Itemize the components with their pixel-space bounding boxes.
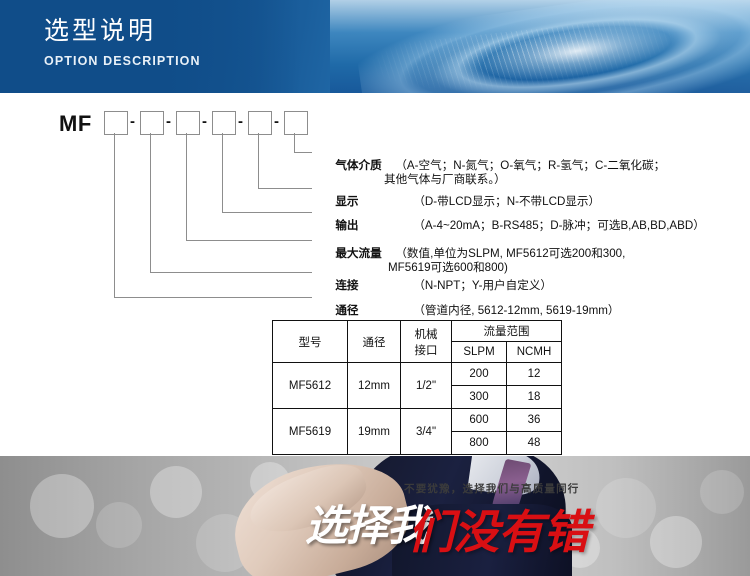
cell-slpm: 200 [452,363,507,386]
th-bore: 通径 [348,321,401,363]
cell-model: MF5619 [273,409,348,455]
code-separator-5: - [274,117,279,127]
bokeh-circle [650,516,702,568]
bottom-promo-banner: 不要犹豫，选择我们与高质量同行 选择我 们没有错 [0,456,750,576]
leader-h-1 [114,297,312,298]
leader-v-6 [294,133,295,153]
page-header-banner: 选型说明 OPTION DESCRIPTION [0,0,750,93]
th-model: 型号 [273,321,348,363]
code-separator-2: - [166,117,171,127]
code-separator-1: - [130,117,135,127]
cell-ncmh: 36 [507,409,562,432]
th-ncmh: NCMH [507,342,562,363]
table-header-row-1: 型号 通径 机械 接口 流量范围 [273,321,562,342]
bokeh-circle [96,502,142,548]
bokeh-circle [596,478,656,538]
leader-h-2 [150,272,312,273]
table-row: MF5612 12mm 1/2" 200 12 [273,363,562,386]
code-separator-3: - [202,117,207,127]
leader-v-4 [222,133,223,213]
code-box-5[interactable] [248,111,272,135]
cell-ncmh: 48 [507,432,562,455]
page-title-en: OPTION DESCRIPTION [44,54,201,68]
option-description-page: 选型说明 OPTION DESCRIPTION MF - - - - - [0,0,750,576]
desc-detail-bore: （管道内径, 5612-12mm, 5619-19mm） [413,304,619,318]
header-text-group: 选型说明 OPTION DESCRIPTION [44,16,201,68]
cell-ncmh: 18 [507,386,562,409]
code-box-3[interactable] [176,111,200,135]
bokeh-circle [30,474,94,538]
banner-tagline: 不要犹豫，选择我们与高质量同行 [404,481,580,496]
cell-bore: 12mm [348,363,401,409]
leader-h-6 [294,152,312,153]
desc-detail-gas-medium-1: （A-空气；N-氮气；O-氧气；R-氢气；C-二氧化碳； [395,159,665,173]
th-mech-line1: 机械 [401,326,451,342]
th-mech-line2: 接口 [401,342,451,358]
leader-h-4 [222,212,312,213]
code-box-2[interactable] [140,111,164,135]
th-slpm: SLPM [452,342,507,363]
leader-v-1 [114,133,115,298]
leader-h-3 [186,240,312,241]
desc-name-max-flow: 最大流量 [335,247,395,261]
code-separator-4: - [238,117,243,127]
desc-detail-output: （A-4~20mA；B-RS485；D-脉冲；可选B,AB,BD,ABD） [413,219,705,233]
desc-name-output: 输出 [335,219,413,233]
cell-model: MF5612 [273,363,348,409]
cell-slpm: 600 [452,409,507,432]
cell-mech: 3/4" [401,409,452,455]
leader-h-5 [258,188,312,189]
cell-bore: 19mm [348,409,401,455]
desc-name-bore: 通径 [335,304,413,318]
banner-slogan-red: 们没有错 [408,496,588,562]
th-mech-interface: 机械 接口 [401,321,452,363]
cell-slpm: 800 [452,432,507,455]
cell-slpm: 300 [452,386,507,409]
desc-name-gas-medium: 气体介质 [335,159,395,173]
code-box-1[interactable] [104,111,128,135]
desc-detail-max-flow-1: （数值,单位为SLPM, MF5612可选200和300, [395,247,625,261]
model-prefix-label: MF [59,111,92,137]
th-flow-range: 流量范围 [452,321,562,342]
leader-v-3 [186,133,187,241]
specification-table: 型号 通径 机械 接口 流量范围 SLPM NCMH MF5612 12mm 1… [272,320,562,455]
leader-v-2 [150,133,151,273]
cell-mech: 1/2" [401,363,452,409]
bokeh-circle [700,470,744,514]
bokeh-circle [150,466,202,518]
table-row: MF5619 19mm 3/4" 600 36 [273,409,562,432]
code-box-4[interactable] [212,111,236,135]
page-title-cn: 选型说明 [44,16,201,46]
cell-ncmh: 12 [507,363,562,386]
code-box-6[interactable] [284,111,308,135]
leader-v-5 [258,133,259,189]
